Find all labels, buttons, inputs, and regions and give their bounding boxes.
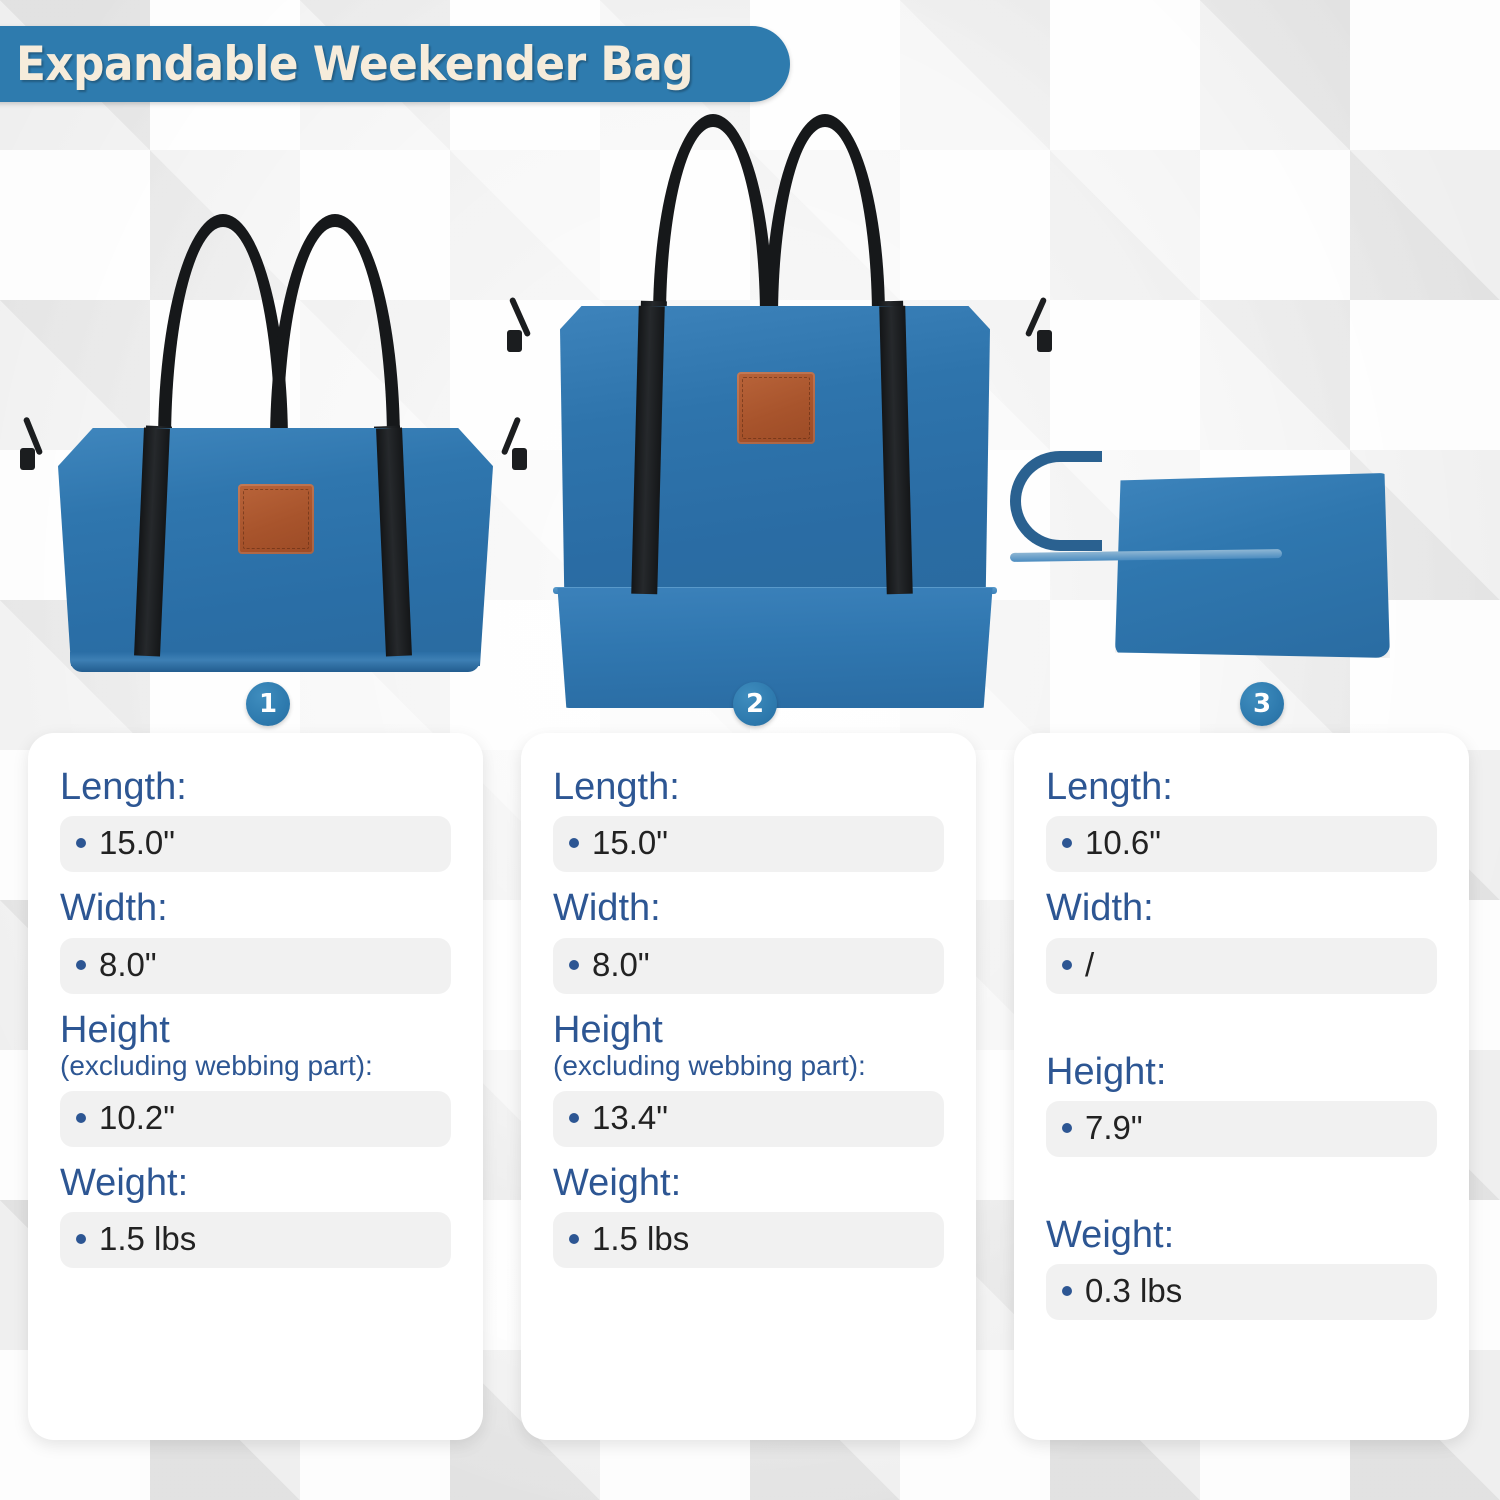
bullet-icon xyxy=(76,1113,86,1123)
spec-value-text: 1.5 lbs xyxy=(592,1220,689,1258)
leather-logo-patch-2 xyxy=(737,372,815,444)
spec-value-text: 15.0" xyxy=(99,824,175,862)
title-banner: Expandable Weekender Bag xyxy=(0,26,790,102)
spec-label-height: Height xyxy=(60,1010,451,1050)
spec-row-width: Width: 8.0" xyxy=(60,888,451,993)
spec-card-2: Length: 15.0" Width: 8.0" Height (exclud… xyxy=(521,733,976,1440)
zipper-tab-right-2 xyxy=(1037,330,1052,352)
spec-value-text: 15.0" xyxy=(592,824,668,862)
spec-sublabel-height: (excluding webbing part): xyxy=(60,1050,451,1082)
spec-card-3: Length: 10.6" Width: / Height: 7.9" Weig… xyxy=(1014,733,1469,1440)
spec-label-width: Width: xyxy=(553,888,944,928)
spec-label-length: Length: xyxy=(553,767,944,807)
bullet-icon xyxy=(1062,960,1072,970)
bullet-icon xyxy=(76,1234,86,1244)
spec-row-length: Length: 15.0" xyxy=(60,767,451,872)
pouch-wrist-strap xyxy=(1010,451,1102,551)
spec-label-weight: Weight: xyxy=(1046,1215,1437,1255)
spec-value-text: 7.9" xyxy=(1085,1109,1143,1147)
spec-row-length: Length: 10.6" xyxy=(1046,767,1437,872)
spec-value-text: 10.2" xyxy=(99,1099,175,1137)
product-number-badge-3: 3 xyxy=(1240,682,1284,726)
spec-row-height: Height (excluding webbing part): 10.2" xyxy=(60,1010,451,1147)
tote-handle-right-1 xyxy=(270,214,400,444)
bullet-icon xyxy=(76,960,86,970)
zipper-tab-left-2 xyxy=(507,330,522,352)
bullet-icon xyxy=(569,960,579,970)
spec-row-weight: Weight: 0.3 lbs xyxy=(1046,1215,1437,1320)
tote-handle-left-1 xyxy=(158,214,288,444)
bullet-icon xyxy=(1062,1286,1072,1296)
pouch-body xyxy=(1115,473,1390,658)
spec-value-text: 8.0" xyxy=(99,946,157,984)
spec-value-weight: 0.3 lbs xyxy=(1046,1264,1437,1320)
bullet-icon xyxy=(569,1113,579,1123)
spec-label-width: Width: xyxy=(1046,888,1437,928)
tote-bottom-1 xyxy=(70,652,480,672)
spec-sublabel-height: (excluding webbing part): xyxy=(553,1050,944,1082)
zipper-tab-left-1 xyxy=(20,448,35,470)
bullet-icon xyxy=(1062,1123,1072,1133)
product-image-expanded-tote xyxy=(485,106,1075,706)
spec-row-width: Width: / xyxy=(1046,888,1437,993)
spec-card-1: Length: 15.0" Width: 8.0" Height (exclud… xyxy=(28,733,483,1440)
spec-label-height: Height: xyxy=(1046,1052,1437,1092)
page-title: Expandable Weekender Bag xyxy=(16,37,693,92)
bullet-icon xyxy=(569,838,579,848)
spec-row-length: Length: 15.0" xyxy=(553,767,944,872)
tote-handle-left-2 xyxy=(653,114,773,319)
spec-label-height: Height xyxy=(553,1010,944,1050)
product-number-badge-2: 2 xyxy=(733,682,777,726)
spec-value-length: 15.0" xyxy=(553,816,944,872)
spec-value-weight: 1.5 lbs xyxy=(60,1212,451,1268)
bullet-icon xyxy=(569,1234,579,1244)
spec-label-length: Length: xyxy=(60,767,451,807)
spec-value-width: 8.0" xyxy=(553,938,944,994)
spec-cards-container: Length: 15.0" Width: 8.0" Height (exclud… xyxy=(0,733,1500,1445)
leather-logo-patch-1 xyxy=(238,484,314,554)
spec-value-height: 13.4" xyxy=(553,1091,944,1147)
spec-label-width: Width: xyxy=(60,888,451,928)
spec-value-text: 0.3 lbs xyxy=(1085,1272,1182,1310)
spec-value-width: 8.0" xyxy=(60,938,451,994)
expansion-panel-2 xyxy=(553,588,997,708)
spec-row-height: Height: 7.9" xyxy=(1046,1052,1437,1157)
bullet-icon xyxy=(76,838,86,848)
spec-value-length: 10.6" xyxy=(1046,816,1437,872)
spec-value-height: 7.9" xyxy=(1046,1101,1437,1157)
spec-label-weight: Weight: xyxy=(60,1163,451,1203)
product-image-stage xyxy=(0,96,1500,706)
product-number-badge-1: 1 xyxy=(246,682,290,726)
bullet-icon xyxy=(1062,838,1072,848)
spec-row-height: Height (excluding webbing part): 13.4" xyxy=(553,1010,944,1147)
spec-value-text: 13.4" xyxy=(592,1099,668,1137)
spec-label-length: Length: xyxy=(1046,767,1437,807)
spec-value-text: / xyxy=(1085,946,1094,984)
spec-value-width: / xyxy=(1046,938,1437,994)
spec-value-weight: 1.5 lbs xyxy=(553,1212,944,1268)
spec-row-weight: Weight: 1.5 lbs xyxy=(553,1163,944,1268)
spec-value-text: 1.5 lbs xyxy=(99,1220,196,1258)
tote-handle-right-2 xyxy=(765,114,885,319)
product-image-zip-pouch xyxy=(1010,451,1410,681)
spec-label-weight: Weight: xyxy=(553,1163,944,1203)
product-image-folded-tote xyxy=(8,196,538,696)
spec-value-length: 15.0" xyxy=(60,816,451,872)
spec-row-weight: Weight: 1.5 lbs xyxy=(60,1163,451,1268)
spec-value-text: 8.0" xyxy=(592,946,650,984)
spec-value-height: 10.2" xyxy=(60,1091,451,1147)
tote-body-2 xyxy=(560,306,990,596)
spec-row-width: Width: 8.0" xyxy=(553,888,944,993)
spec-value-text: 10.6" xyxy=(1085,824,1161,862)
